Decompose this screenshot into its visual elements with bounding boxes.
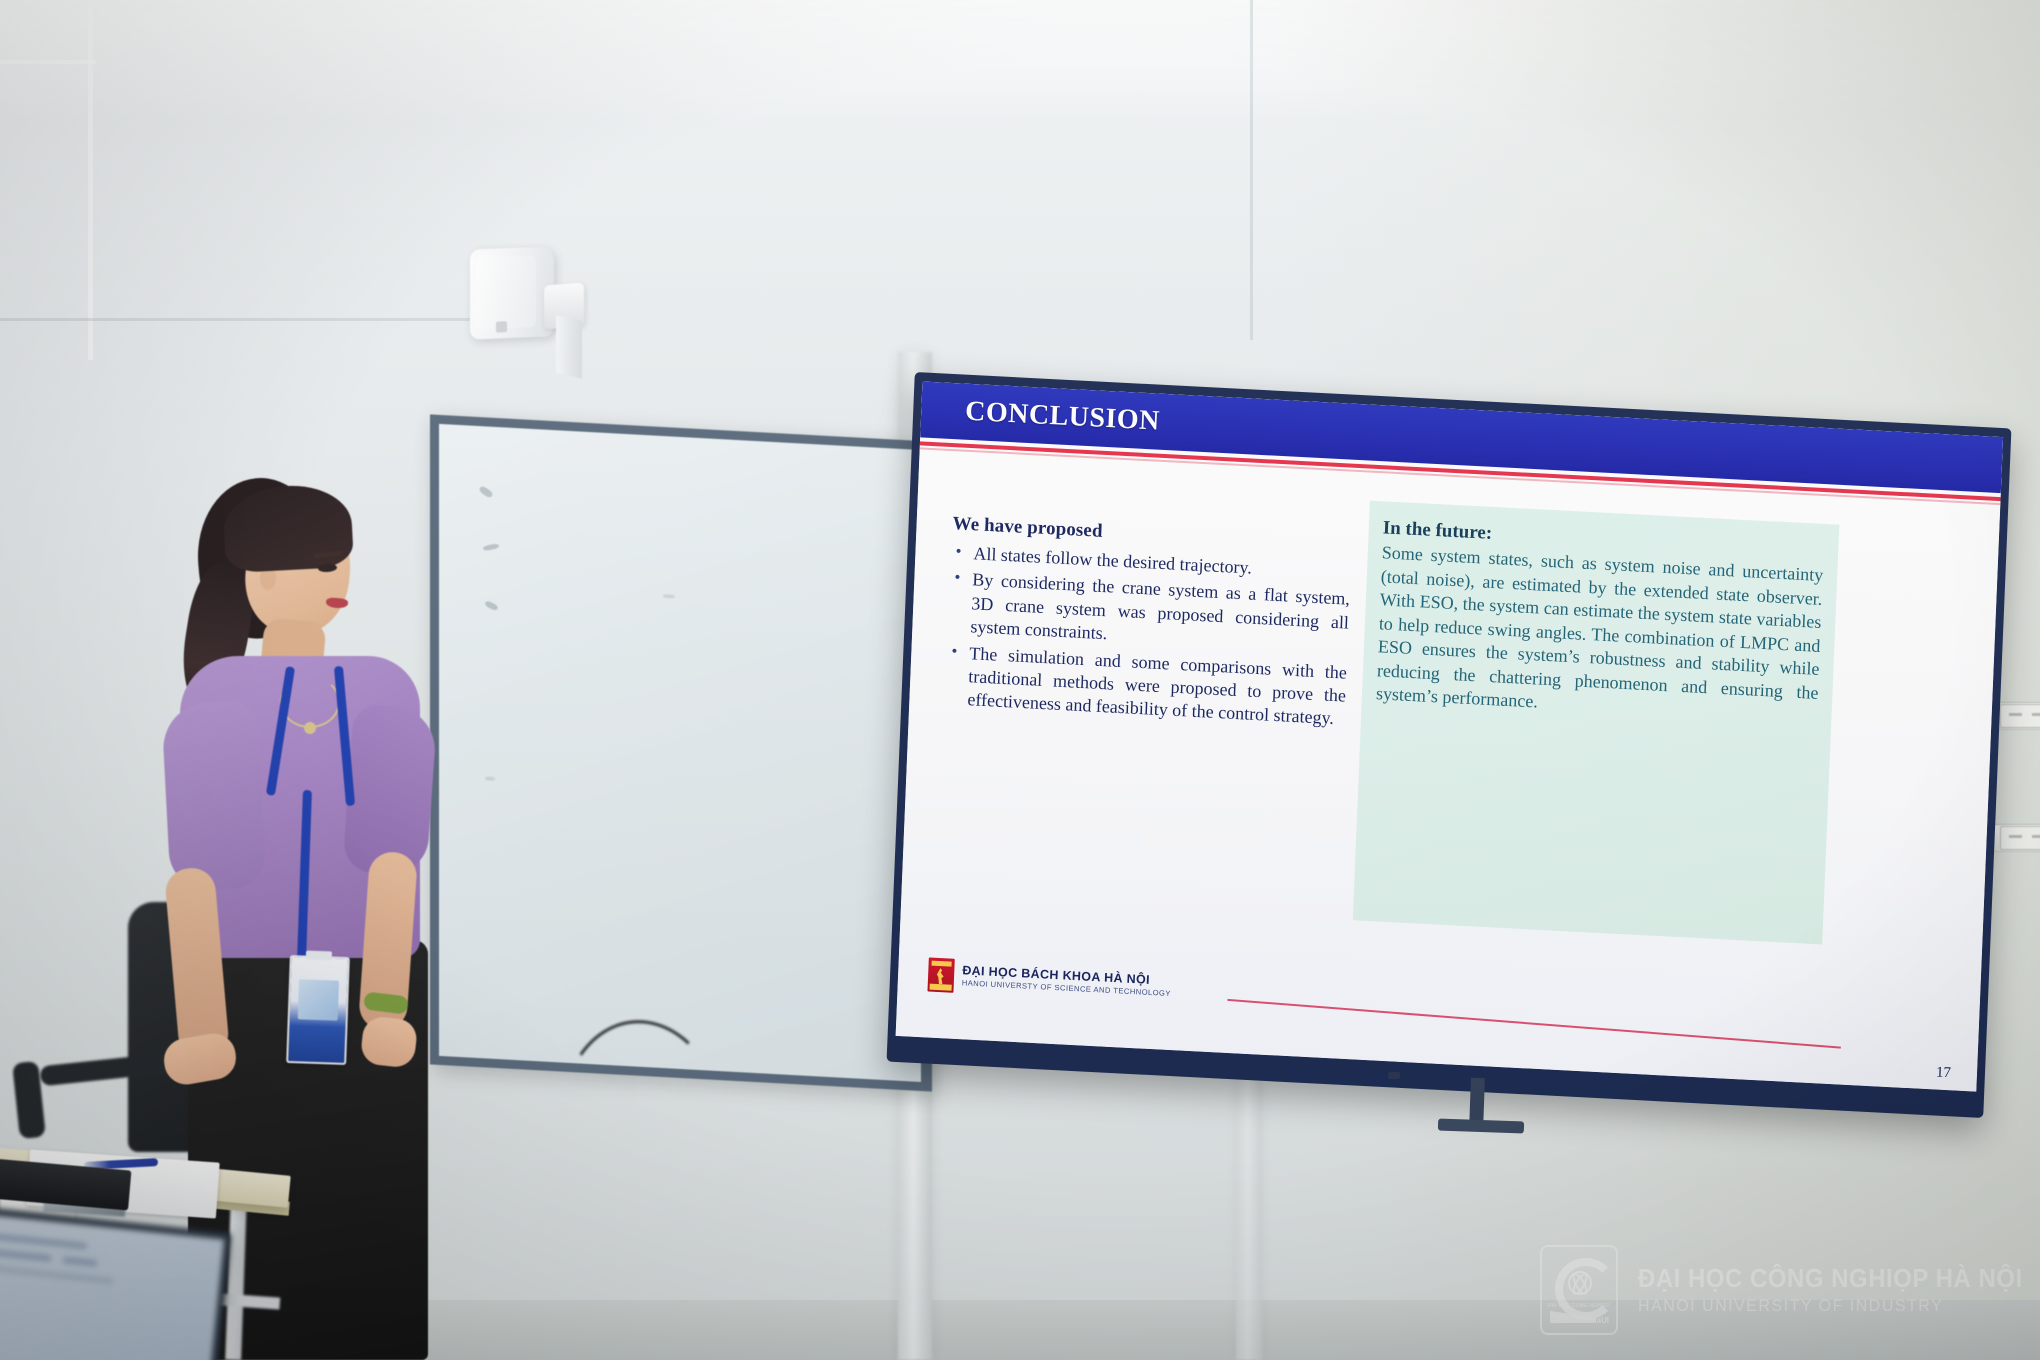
whiteboard-marks [439,424,921,1082]
wall-seam [0,318,470,321]
wall-speaker-icon [470,246,554,339]
wall-pillar [1236,1040,1262,1360]
haui-logo-atom [1568,1271,1592,1295]
wall-mounted-television[interactable]: CONCLUSION We have proposed All states f… [887,372,2012,1118]
page-title: CONCLUSION [965,396,1161,438]
watermark-org-name-vi: ĐẠI HỌC CÔNG NGHIỌP HÀ NỘI [1638,1264,2023,1292]
slide-footer: ĐẠI HỌC BÁCH KHOA HÀ NỘI HANOI UNIVERSTY… [927,957,1171,1003]
presentation-slide: CONCLUSION We have proposed All states f… [896,381,2003,1091]
tv-screen[interactable]: CONCLUSION We have proposed All states f… [896,381,2003,1091]
badge-artwork [298,979,339,1020]
presenter-sleeve-right [342,703,438,876]
wall-panel-line [0,60,96,64]
haui-logo-abbrev: HaUI [1591,1316,1609,1325]
watermark: ĐẠI HỌC CÔNG NGHIỆP HÀ NỘI HaUI ĐẠI HỌC … [1540,1238,2010,1342]
left-column-bullet-list: All states follow the desired trajectory… [945,541,1351,731]
right-column-body: Some system states, such as system noise… [1376,541,1824,729]
footer-org-text: ĐẠI HỌC BÁCH KHOA HÀ NỘI HANOI UNIVERSTY… [962,965,1172,999]
lecture-room-scene: CONCLUSION We have proposed All states f… [0,0,2040,1360]
wall-seam [1250,0,1253,340]
badge-clip [306,951,332,961]
presenter-hand-right [360,1015,419,1068]
haui-logo-caption: ĐẠI HỌC CÔNG NGHIỆP HÀ NỘI [1548,1303,1610,1309]
watermark-org-name-en: HANOI UNIVERSITY OF INDUSTRY [1638,1295,2031,1316]
wall-panel-line [88,0,93,360]
hust-logo-icon [927,957,954,992]
presenter-sleeve-left [161,700,267,893]
footer-accent-line [1227,999,1840,1049]
speaker-arm [556,315,582,379]
speaker-grill [476,255,536,329]
wall-socket[interactable] [2000,826,2040,850]
watermark-text: ĐẠI HỌC CÔNG NGHIỌP HÀ NỘI HANOI UNIVERS… [1638,1264,2040,1316]
presenter-person [150,470,480,1360]
slide-right-column-panel: In the future: Some system states, such … [1353,501,1840,945]
presenter-necklace-pendant [304,722,316,734]
speaker-badge [496,321,507,332]
slide-page-number: 17 [1936,1064,1952,1082]
whiteboard [430,414,932,1091]
haui-logo-icon: ĐẠI HỌC CÔNG NGHIỆP HÀ NỘI HaUI [1540,1245,1618,1335]
id-badge [286,955,350,1065]
wall-socket[interactable] [2000,704,2040,728]
tv-brand-indicator [1388,1072,1400,1079]
slide-left-column: We have proposed All states follow the d… [945,513,1353,734]
